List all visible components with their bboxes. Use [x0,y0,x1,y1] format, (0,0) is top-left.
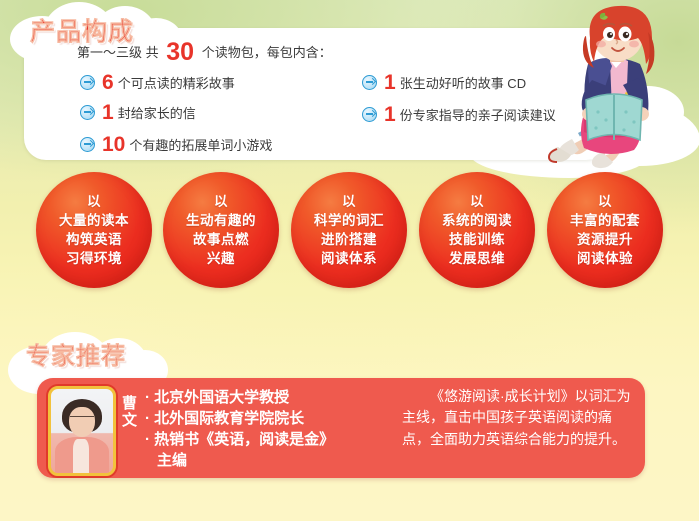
circle-line: 以 [342,192,356,211]
circle-line: 构筑英语 [66,230,122,249]
product-lead-line: 第一～三级 共 30 个读物包，每包内含： [76,40,333,65]
circle-line: 以 [470,192,484,211]
portrait-shirt [73,439,89,473]
feature-item: 1 张生动好听的故事 CD [362,72,526,93]
circle-line: 科学的词汇 [314,211,384,230]
circle-line: 资源提升 [577,230,633,249]
expert-bio-line-1: · 北京外国语大学教授 [145,388,289,408]
feature-number: 10 [102,134,125,155]
expert-name: 曹文 [121,396,138,430]
circle-line: 丰富的配套 [570,211,640,230]
circle-line: 兴趣 [207,249,235,268]
arrow-circle-icon [80,75,95,90]
poster-canvas: 产品构成 第一～三级 共 30 个读物包，每包内含： 6 个可点读的精彩故事 1… [0,0,699,521]
arrow-circle-icon [362,75,377,90]
circle-line: 发展思维 [449,249,505,268]
expert-bio-line-4: 主编 [157,451,187,471]
circle-line: 系统的阅读 [442,211,512,230]
circle-line: 以 [598,192,612,211]
feature-item: 1 封给家长的信 [80,102,196,123]
expert-quote-text: 《悠游阅读·成长计划》以词汇为主线，直击中国孩子英语阅读的痛点，全面助力英语综合… [402,386,634,450]
girl-reading-illustration [528,2,699,174]
feature-label: 封给家长的信 [118,103,196,122]
feature-label: 个有趣的拓展单词小游戏 [129,135,272,154]
feature-number: 1 [102,102,114,123]
feature-circle-4: 以 系统的阅读 技能训练 发展思维 [419,172,535,288]
portrait-glasses [70,416,94,422]
arrow-circle-icon [80,105,95,120]
feature-number: 1 [384,104,396,125]
feature-circle-5: 以 丰富的配套 资源提升 阅读体验 [547,172,663,288]
arrow-circle-icon [362,107,377,122]
circle-line: 大量的读本 [59,211,129,230]
expert-bio-line-3: · 热销书《英语，阅读是金》 [145,430,334,450]
feature-number: 6 [102,72,114,93]
expert-bio-line-2: · 北外国际教育学院院长 [145,409,304,429]
lead-prefix: 第一～三级 共 [77,45,159,60]
expert-section-title: 专家推荐 [26,336,126,371]
feature-circle-1: 以 大量的读本 构筑英语 习得环境 [36,172,152,288]
circle-line: 技能训练 [449,230,505,249]
circle-line: 阅读体系 [321,249,377,268]
circle-line: 生动有趣的 [186,211,256,230]
feature-label: 个可点读的精彩故事 [118,73,235,92]
arrow-circle-icon [80,137,95,152]
circle-line: 故事点燃 [193,230,249,249]
feature-item: 1 份专家指导的亲子阅读建议 [362,104,556,125]
feature-circle-3: 以 科学的词汇 进阶搭建 阅读体系 [291,172,407,288]
circle-line: 进阶搭建 [321,230,377,249]
feature-label: 张生动好听的故事 CD [400,73,526,92]
lead-count: 30 [166,38,194,66]
circle-line: 以 [87,192,101,211]
circle-line: 以 [214,192,228,211]
portrait-face [69,407,95,437]
expert-portrait-photo [48,386,116,476]
circle-line: 习得环境 [66,249,122,268]
feature-circle-2: 以 生动有趣的 故事点燃 兴趣 [163,172,279,288]
feature-number: 1 [384,72,396,93]
circle-line: 阅读体验 [577,249,633,268]
feature-item: 6 个可点读的精彩故事 [80,72,235,93]
feature-item: 10 个有趣的拓展单词小游戏 [80,134,272,155]
lead-suffix: 个读物包，每包内含： [202,45,332,60]
